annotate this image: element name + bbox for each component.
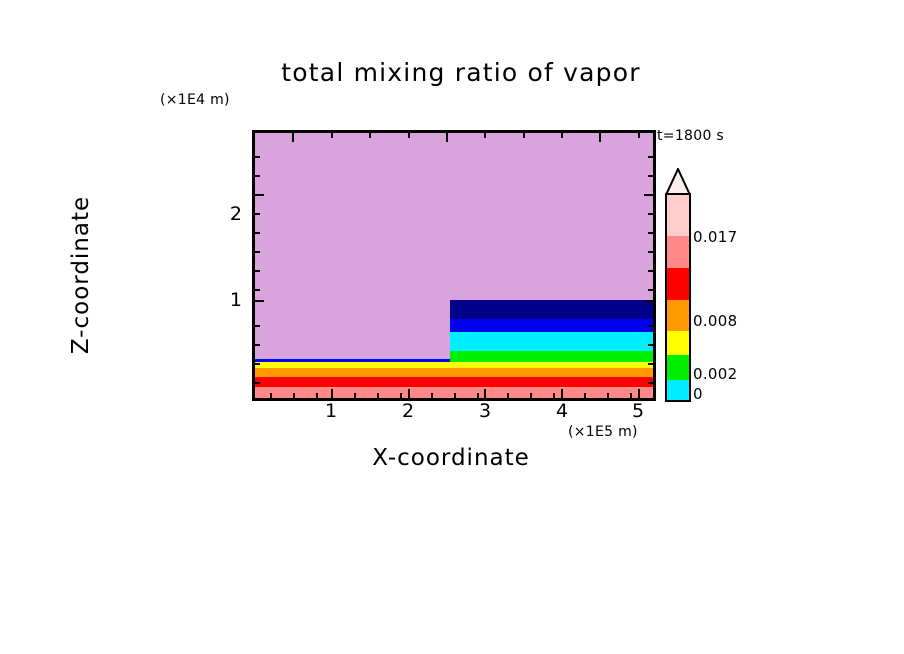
tick-right bbox=[648, 175, 653, 177]
tick-top bbox=[292, 133, 294, 142]
x-tick-label-5: 5 bbox=[623, 400, 653, 422]
tick-left bbox=[255, 251, 260, 253]
tick-left bbox=[255, 232, 260, 234]
tick-right bbox=[648, 382, 653, 384]
contour-band-right-salmon bbox=[450, 387, 653, 398]
colorbar-band-green bbox=[667, 355, 689, 380]
tick-bottom bbox=[507, 393, 509, 398]
tick-right bbox=[648, 289, 653, 291]
tick-top bbox=[331, 133, 333, 138]
y-tick-label-1: 1 bbox=[218, 289, 242, 311]
tick-top bbox=[561, 133, 563, 138]
figure-canvas: total mixing ratio of vapor (×1E4 m) (×1… bbox=[0, 0, 904, 654]
tick-left bbox=[255, 175, 260, 177]
tick-top bbox=[484, 133, 486, 138]
tick-top bbox=[523, 133, 525, 138]
colorbar-band-red bbox=[667, 268, 689, 300]
x-tick-label-4: 4 bbox=[547, 400, 577, 422]
tick-bottom bbox=[293, 393, 295, 398]
page-title: total mixing ratio of vapor bbox=[246, 58, 676, 87]
tick-top bbox=[446, 133, 448, 142]
contour-band-right-green bbox=[450, 351, 653, 362]
x-axis-title: X-coordinate bbox=[252, 445, 650, 471]
x-axis-unit-label: (×1E5 m) bbox=[568, 424, 638, 440]
tick-right bbox=[648, 156, 653, 158]
contour-band-right-violet bbox=[450, 133, 653, 300]
tick-left bbox=[255, 382, 260, 384]
contour-band-left-salmon bbox=[255, 387, 450, 398]
contour-band-left-red bbox=[255, 377, 450, 387]
colorbar-arrow-icon bbox=[665, 168, 691, 196]
colorbar-label-0008: 0.008 bbox=[693, 312, 737, 330]
x-tick-label-1: 1 bbox=[316, 400, 346, 422]
tick-right bbox=[648, 232, 653, 234]
colorbar-band-blue bbox=[667, 400, 689, 402]
y-axis-unit-label: (×1E4 m) bbox=[160, 92, 230, 108]
tick-right bbox=[648, 270, 653, 272]
tick-right bbox=[644, 194, 653, 196]
contour-band-right-orange bbox=[450, 368, 653, 377]
tick-left bbox=[255, 289, 260, 291]
tick-bottom bbox=[630, 393, 632, 398]
tick-bottom bbox=[454, 393, 456, 398]
contour-band-left-orange bbox=[255, 368, 450, 377]
tick-bottom bbox=[331, 389, 333, 398]
x-tick-label-3: 3 bbox=[470, 400, 500, 422]
y-axis-title: Z-coordinate bbox=[68, 141, 94, 409]
tick-top bbox=[599, 133, 601, 142]
tick-top bbox=[638, 133, 640, 138]
tick-left bbox=[255, 270, 260, 272]
tick-bottom bbox=[561, 389, 563, 398]
colorbar-label-0002: 0.002 bbox=[693, 365, 737, 383]
colorbar-band-yellow bbox=[667, 331, 689, 355]
tick-right bbox=[648, 363, 653, 365]
colorbar-label-0: 0 bbox=[693, 385, 703, 403]
tick-left bbox=[255, 325, 260, 327]
tick-bottom bbox=[638, 389, 640, 398]
colorbar-band-pink-pale bbox=[667, 195, 689, 236]
colorbar-band-salmon bbox=[667, 236, 689, 268]
tick-bottom bbox=[607, 393, 609, 398]
contour-band-right-navy bbox=[450, 300, 653, 319]
colorbar-band-orange bbox=[667, 300, 689, 331]
tick-bottom bbox=[316, 393, 318, 398]
tick-bottom bbox=[477, 393, 479, 398]
timestamp-annotation: t=1800 s bbox=[657, 128, 724, 144]
y-tick-label-2: 2 bbox=[218, 203, 242, 225]
colorbar-band-cyan bbox=[667, 380, 689, 400]
tick-top bbox=[369, 133, 371, 138]
x-tick-label-2: 2 bbox=[393, 400, 423, 422]
tick-left bbox=[255, 156, 260, 158]
tick-bottom bbox=[530, 393, 532, 398]
tick-left bbox=[255, 194, 264, 196]
tick-bottom bbox=[377, 393, 379, 398]
tick-left bbox=[255, 363, 260, 365]
contour-band-right-cyan bbox=[450, 332, 653, 351]
colorbar bbox=[665, 193, 691, 402]
contour-plot-area bbox=[252, 130, 656, 401]
tick-bottom bbox=[431, 393, 433, 398]
tick-left bbox=[255, 213, 260, 215]
tick-right bbox=[648, 251, 653, 253]
tick-bottom bbox=[584, 393, 586, 398]
tick-right bbox=[648, 213, 653, 215]
tick-left bbox=[255, 300, 264, 302]
contour-band-left-violet bbox=[255, 133, 450, 359]
tick-right bbox=[648, 344, 653, 346]
colorbar-label-0017: 0.017 bbox=[693, 228, 737, 246]
tick-bottom bbox=[400, 393, 402, 398]
tick-bottom bbox=[354, 393, 356, 398]
tick-bottom bbox=[408, 389, 410, 398]
tick-right bbox=[644, 300, 653, 302]
contour-band-right-red bbox=[450, 377, 653, 387]
tick-bottom bbox=[270, 393, 272, 398]
contour-band-right-blue bbox=[450, 319, 653, 332]
tick-right bbox=[648, 325, 653, 327]
tick-bottom bbox=[553, 393, 555, 398]
tick-left bbox=[255, 344, 260, 346]
tick-top bbox=[408, 133, 410, 138]
tick-bottom bbox=[484, 389, 486, 398]
